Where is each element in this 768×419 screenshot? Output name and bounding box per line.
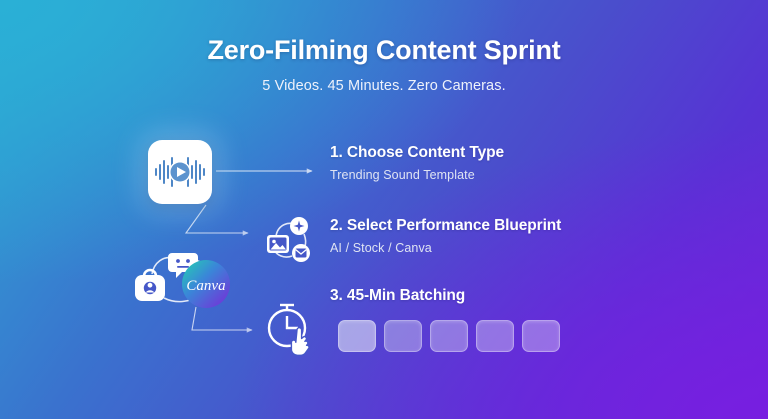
page-subtitle: 5 Videos. 45 Minutes. Zero Cameras.: [0, 78, 768, 94]
pointer-hand-icon: [291, 328, 309, 356]
timer-icon-cluster[interactable]: [262, 300, 318, 356]
step-2-title: 2. Select Performance Blueprint: [330, 217, 561, 235]
batch-slot-2[interactable]: [384, 320, 422, 352]
step-1-title: 1. Choose Content Type: [330, 144, 504, 162]
infographic-canvas: Zero-Filming Content Sprint 5 Videos. 45…: [0, 0, 768, 419]
canva-logo-text: Canva: [186, 278, 225, 294]
camera-tool-icon: [135, 270, 165, 301]
photo-icon: [267, 235, 289, 253]
sparkle-icon: [290, 217, 308, 235]
batch-slot-5[interactable]: [522, 320, 560, 352]
stopwatch-click-icon: [262, 300, 318, 356]
header: Zero-Filming Content Sprint 5 Videos. 45…: [0, 36, 768, 94]
content-type-card[interactable]: [148, 140, 212, 204]
canva-logo[interactable]: Canva: [182, 260, 230, 308]
step-1: 1. Choose Content Type Trending Sound Te…: [330, 144, 504, 182]
tools-cluster-icon: Canva: [132, 252, 242, 314]
envelope-icon: [292, 244, 310, 262]
connector-card-to-step2: [186, 205, 248, 233]
audio-waveform-play-icon: [154, 153, 206, 191]
step-1-subtitle: Trending Sound Template: [330, 168, 504, 182]
image-ai-assets-icon: [258, 216, 314, 266]
step-3: 3. 45-Min Batching: [330, 287, 465, 305]
tools-icon-cluster[interactable]: Canva: [132, 252, 242, 314]
page-title: Zero-Filming Content Sprint: [0, 36, 768, 66]
step-2: 2. Select Performance Blueprint AI / Sto…: [330, 217, 561, 255]
batch-slot-3[interactable]: [430, 320, 468, 352]
batch-slot-1[interactable]: [338, 320, 376, 352]
batch-slot-4[interactable]: [476, 320, 514, 352]
step-3-title: 3. 45-Min Batching: [330, 287, 465, 305]
step-2-subtitle: AI / Stock / Canva: [330, 241, 561, 255]
batching-tiles: [338, 320, 560, 352]
blueprint-icon-cluster[interactable]: [258, 216, 314, 266]
